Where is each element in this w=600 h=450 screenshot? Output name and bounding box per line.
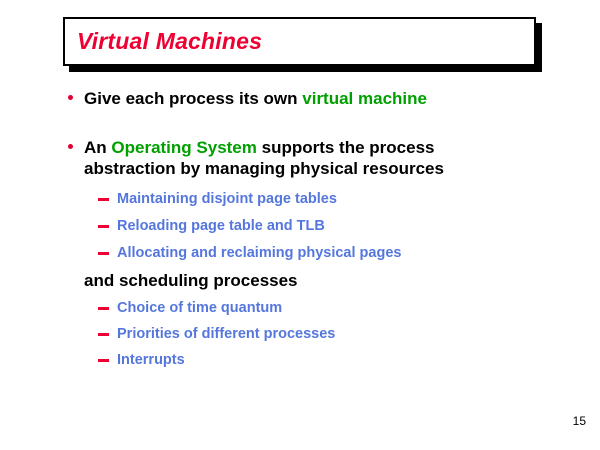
sub-bullet-item-2: Reloading page table and TLB [0, 217, 600, 235]
spacer [0, 343, 600, 351]
spacer [0, 179, 600, 190]
bullet-item-2: An Operating System supports the process… [0, 137, 600, 179]
slide-canvas: Virtual Machines Give each process its o… [0, 0, 600, 450]
sub-bullet-2-label: Reloading page table and TLB [117, 218, 325, 234]
dash-bullet-icon [98, 307, 109, 310]
spacer [0, 235, 600, 244]
dash-bullet-icon [98, 225, 109, 228]
slide-title-block: Virtual Machines [63, 17, 536, 66]
page-number: 15 [573, 414, 586, 428]
sub-bullet-item-5: Priorities of different processes [0, 325, 600, 343]
sub-bullet-6-label: Interrupts [117, 352, 185, 368]
spacer [0, 208, 600, 217]
bullet-2-text-part-3: abstraction by managing physical resourc… [84, 159, 444, 178]
title-box: Virtual Machines [63, 17, 536, 66]
bullet-2-highlight-operating-system: Operating System [111, 138, 257, 157]
sub-bullet-item-4: Choice of time quantum [0, 299, 600, 317]
sub-bullet-item-1: Maintaining disjoint page tables [0, 190, 600, 208]
bullet-1-text-part-1: Give each process its own [84, 89, 302, 108]
bullet-item-1: Give each process its own virtual machin… [0, 88, 600, 109]
page-title: Virtual Machines [77, 27, 262, 54]
sub-bullet-5-label: Priorities of different processes [117, 326, 335, 342]
spacer [0, 109, 600, 137]
spacer [0, 262, 600, 270]
sub-bullet-item-6: Interrupts [0, 351, 600, 369]
sub-bullet-1-label: Maintaining disjoint page tables [117, 191, 337, 207]
dash-bullet-icon [98, 252, 109, 255]
sub-bullet-item-3: Allocating and reclaiming physical pages [0, 244, 600, 262]
bullet-1-highlight-virtual-machine: virtual machine [302, 89, 427, 108]
bullet-dot-icon [68, 144, 73, 149]
slide-body: Give each process its own virtual machin… [0, 88, 600, 369]
sub-bullet-4-label: Choice of time quantum [117, 300, 282, 316]
continuation-line-and-scheduling: and scheduling processes [0, 270, 600, 291]
dash-bullet-icon [98, 198, 109, 201]
spacer [0, 317, 600, 325]
sub-bullet-3-label: Allocating and reclaiming physical pages [117, 245, 401, 261]
bullet-2-text-part-1: An [84, 138, 111, 157]
spacer [0, 291, 600, 299]
dash-bullet-icon [98, 359, 109, 362]
dash-bullet-icon [98, 333, 109, 336]
bullet-2-text-part-2: supports the process [257, 138, 435, 157]
bullet-dot-icon [68, 95, 73, 100]
